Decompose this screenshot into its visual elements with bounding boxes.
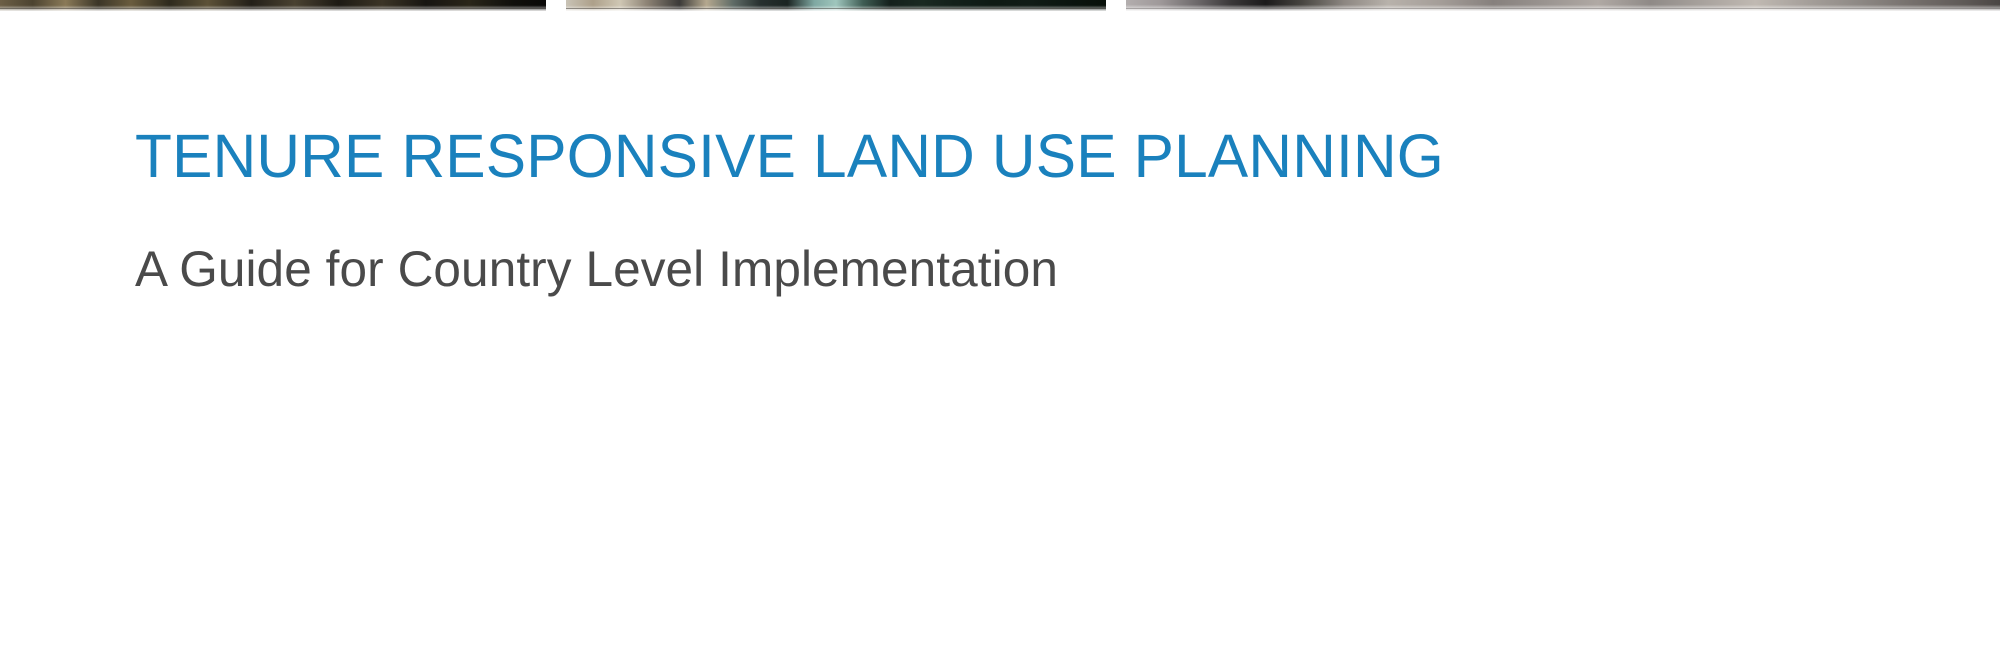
photo-slice-middle <box>566 0 1106 11</box>
cover-text-block: TENURE RESPONSIVE LAND USE PLANNING A Gu… <box>135 120 1735 299</box>
photo-slice-left <box>0 0 546 11</box>
photo-slice-right <box>1126 0 2000 11</box>
photo-slice-right-hairline <box>1126 8 2000 9</box>
page-subtitle: A Guide for Country Level Implementation <box>135 239 1719 299</box>
cover-photo-band <box>0 0 2000 11</box>
page-title: TENURE RESPONSIVE LAND USE PLANNING <box>135 120 1719 192</box>
photo-slice-left-hairline <box>0 8 546 9</box>
photo-slice-middle-hairline <box>566 8 1106 9</box>
page-body-blank-area <box>0 360 2000 650</box>
cover-page: TENURE RESPONSIVE LAND USE PLANNING A Gu… <box>0 0 2000 650</box>
